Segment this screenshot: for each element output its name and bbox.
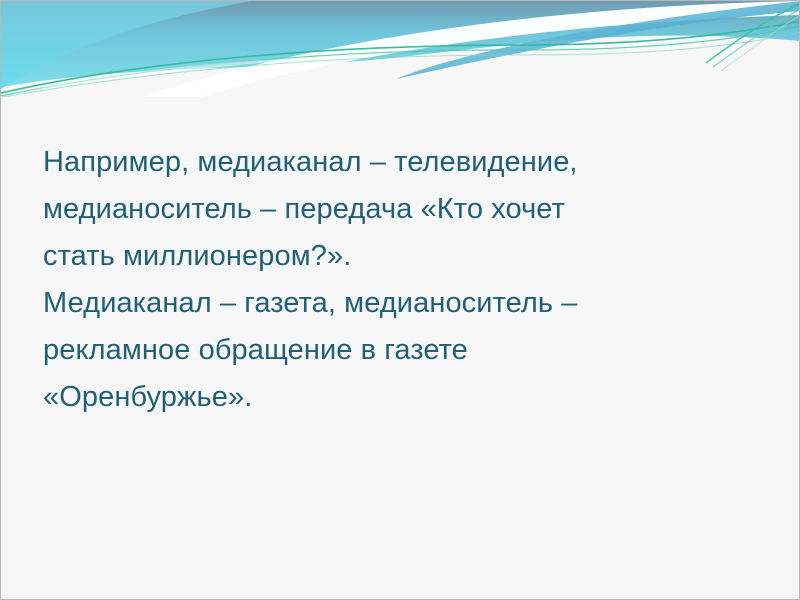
wave-white-wedge <box>1 57 331 97</box>
wave-base-fill <box>1 1 800 87</box>
text-line: рекламное обращение в газете <box>43 327 763 374</box>
text-line: Медиаканал – газета, медианоситель – <box>43 280 763 327</box>
wave-green-line-3 <box>3 32 800 97</box>
wave-green-line-1 <box>1 21 800 93</box>
wave-green-line-2 <box>1 26 800 96</box>
presentation-slide: Например, медиаканал – телевидение, меди… <box>0 0 800 600</box>
text-line: «Оренбуржье». <box>43 374 763 421</box>
wave-right-blue-arc <box>396 1 800 79</box>
slide-body-text: Например, медиаканал – телевидение, меди… <box>43 139 763 421</box>
text-line: стать миллионером?». <box>43 233 763 280</box>
wave-white-band <box>141 1 800 97</box>
wave-corner-line-2 <box>706 3 800 63</box>
text-line: медианоситель – передача «Кто хочет <box>43 186 763 233</box>
wave-left-lobe <box>1 1 251 89</box>
wave-corner-line-4 <box>721 15 800 71</box>
wave-corner-line-3 <box>713 9 800 67</box>
text-line: Например, медиаканал – телевидение, <box>43 139 763 186</box>
wave-graphic <box>1 1 800 97</box>
decorative-wave-banner <box>1 1 800 97</box>
